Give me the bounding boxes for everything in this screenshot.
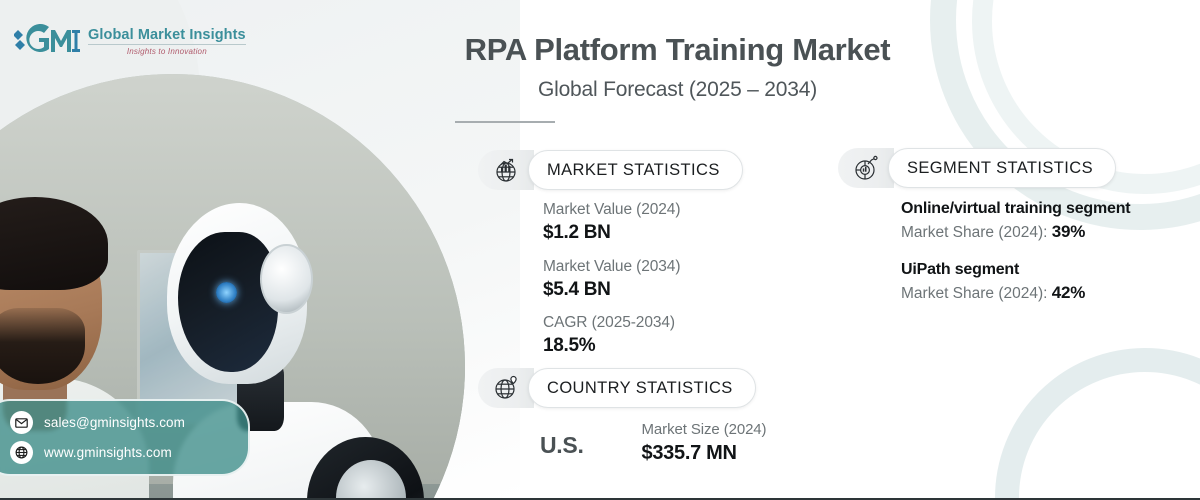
market-statistics-pill[interactable]: MARKET STATISTICS [478,150,743,190]
infographic-canvas: Global Market Insights Insights to Innov… [0,0,1200,500]
country-row: U.S. Market Size (2024) $335.7 MN [540,420,940,466]
cagr-value: 18.5% [543,334,680,359]
contact-website-row[interactable]: www.gminsights.com [10,441,236,464]
segment-1-share-label: Market Share (2024): [901,224,1047,241]
brand-name: Global Market Insights [88,27,246,45]
country-metric: Market Size (2024) $335.7 MN [642,420,767,466]
page-subtitle: Global Forecast (2025 – 2034) [455,78,900,102]
contact-website-text: www.gminsights.com [44,445,172,460]
country-market-size-label: Market Size (2024) [642,420,767,440]
market-value-2024-value: $1.2 BN [543,221,680,246]
globe-pin-icon [478,368,534,408]
contact-email-row[interactable]: sales@gminsights.com [10,411,236,434]
cagr-label: CAGR (2025-2034) [543,313,680,334]
contact-badge: sales@gminsights.com www.gminsights.com [0,399,250,476]
decorative-arc-bottom-right [995,348,1200,500]
title-block: RPA Platform Training Market Global Fore… [455,32,1155,123]
envelope-icon [10,411,33,434]
segment-1-share-value: 39% [1052,222,1085,241]
title-divider [455,121,555,123]
market-value-2034-label: Market Value (2034) [543,257,680,278]
globe-chart-icon [478,150,534,190]
segment-2-share: Market Share (2024): 42% [901,281,1130,305]
country-statistics-label: COUNTRY STATISTICS [528,368,756,408]
gmi-logo-icon [14,24,80,58]
segment-2-share-value: 42% [1052,283,1085,302]
segment-2-name: UiPath segment [901,259,1130,281]
segment-statistics-label: SEGMENT STATISTICS [888,148,1116,188]
market-statistics-body: Market Value (2024) $1.2 BN Market Value… [543,200,680,370]
country-statistics-pill[interactable]: COUNTRY STATISTICS [478,368,756,408]
segment-statistics-body: Online/virtual training segment Market S… [901,198,1130,321]
brand-tagline: Insights to Innovation [88,47,246,56]
pie-chart-arrow-icon [838,148,894,188]
country-name: U.S. [540,420,584,459]
contact-email-text: sales@gminsights.com [44,415,185,430]
logo-wordmark: Global Market Insights Insights to Innov… [88,27,246,56]
robot-ear-module [260,244,313,314]
country-market-size-value: $335.7 MN [642,440,767,466]
market-value-2024-label: Market Value (2024) [543,200,680,221]
segment-statistics-pill[interactable]: SEGMENT STATISTICS [838,148,1116,188]
segment-2-share-label: Market Share (2024): [901,285,1047,302]
brand-logo: Global Market Insights Insights to Innov… [14,24,246,58]
segment-1-name: Online/virtual training segment [901,198,1130,220]
country-statistics-body: U.S. Market Size (2024) $335.7 MN [540,420,940,466]
market-statistics-label: MARKET STATISTICS [528,150,743,190]
robot-eye [216,282,237,303]
segment-1-share: Market Share (2024): 39% [901,220,1130,244]
page-title: RPA Platform Training Market [455,32,900,68]
globe-icon [10,441,33,464]
market-value-2034-value: $5.4 BN [543,278,680,303]
